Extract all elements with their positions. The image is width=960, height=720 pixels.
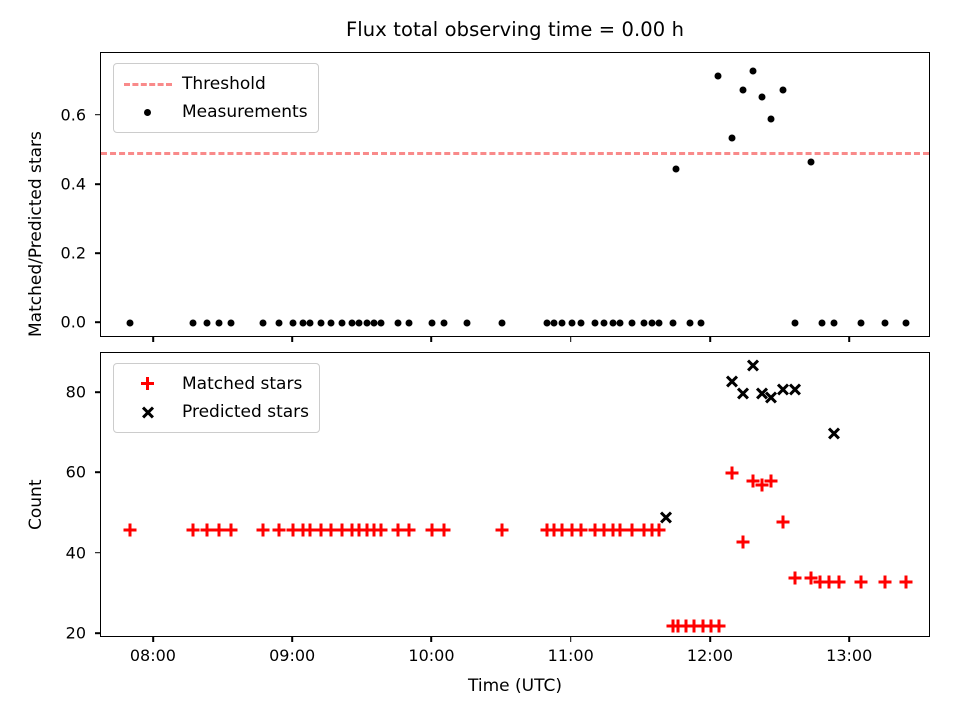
measurement-point [216, 320, 223, 327]
measurement-point [348, 320, 355, 327]
measurement-point [858, 320, 865, 327]
measurement-point [327, 320, 334, 327]
measurement-point [656, 320, 663, 327]
bottom-xtick-mark [291, 637, 293, 642]
bottom-ytick-label: 20 [15, 623, 95, 642]
measurement-point [543, 320, 550, 327]
measurement-point [550, 320, 557, 327]
bottom-xtick-mark [431, 637, 433, 642]
measurement-point [714, 73, 721, 80]
measurement-point [902, 320, 909, 327]
measurement-point [306, 320, 313, 327]
xtick-label: 08:00 [130, 646, 176, 665]
red-plus-icon [122, 372, 174, 396]
measurement-point [819, 320, 826, 327]
matched-star-point [437, 523, 450, 536]
measurement-point [276, 320, 283, 327]
measurement-point [227, 320, 234, 327]
measurement-point [568, 320, 575, 327]
measurement-point [698, 320, 705, 327]
matched-star-point [713, 619, 726, 632]
bottom-xtick-mark [848, 637, 850, 642]
measurement-point [299, 320, 306, 327]
measurement-point [759, 93, 766, 100]
matched-star-point [273, 523, 286, 536]
measurement-point [189, 320, 196, 327]
legend-top-panel: Threshold Measurements [113, 63, 319, 133]
measurement-point [363, 320, 370, 327]
xtick-label: 10:00 [408, 646, 454, 665]
legend-entry-matched-stars[interactable]: Matched stars [122, 370, 309, 398]
measurement-point [780, 86, 787, 93]
legend-label-measurements: Measurements [182, 104, 308, 121]
black-dot-icon [122, 100, 174, 124]
matched-star-point [833, 575, 846, 588]
measurement-point [728, 135, 735, 142]
measurement-point [405, 320, 412, 327]
top-xtick-mark [709, 337, 711, 342]
measurement-point [394, 320, 401, 327]
top-xtick-mark [570, 337, 572, 342]
legend-label-predicted-stars: Predicted stars [182, 404, 309, 421]
top-ytick-label: 0.6 [15, 105, 95, 124]
x-axis-label: Time (UTC) [100, 676, 930, 696]
matched-star-point [496, 523, 509, 536]
xtick-label: 11:00 [548, 646, 594, 665]
measurement-point [127, 320, 134, 327]
matplotlib-figure: Flux total observing time = 0.00 h Thres… [0, 0, 960, 720]
measurement-point [592, 320, 599, 327]
top-xtick-mark [848, 337, 850, 342]
axes-matched-predicted-ratio: Threshold Measurements [100, 52, 930, 337]
measurement-point [203, 320, 210, 327]
measurement-point [670, 320, 677, 327]
matched-star-point [200, 523, 213, 536]
predicted-star-point [746, 358, 760, 372]
top-xtick-mark [431, 337, 433, 342]
threshold-dashed-line-icon [122, 72, 174, 96]
measurement-point [767, 116, 774, 123]
measurement-point [464, 320, 471, 327]
matched-star-point [124, 523, 137, 536]
matched-star-point [899, 575, 912, 588]
predicted-star-point [659, 511, 673, 525]
legend-entry-predicted-stars[interactable]: Predicted stars [122, 398, 309, 426]
measurement-point [558, 320, 565, 327]
measurement-point [318, 320, 325, 327]
matched-star-point [374, 523, 387, 536]
black-cross-icon [122, 400, 174, 424]
matched-star-point [224, 523, 237, 536]
y-axis-label-bottom: Count [26, 480, 46, 531]
legend-entry-measurements[interactable]: Measurements [122, 98, 308, 126]
measurement-point [355, 320, 362, 327]
measurement-point [791, 320, 798, 327]
measurement-point [370, 320, 377, 327]
bottom-ytick-label: 80 [15, 383, 95, 402]
xtick-label: 12:00 [687, 646, 733, 665]
legend-bottom-panel: Matched stars Predicted stars [113, 363, 320, 433]
matched-star-point [736, 535, 749, 548]
matched-star-point [186, 523, 199, 536]
measurement-point [673, 166, 680, 173]
top-xtick-mark [291, 337, 293, 342]
measurement-point [440, 320, 447, 327]
legend-label-matched-stars: Matched stars [182, 376, 302, 393]
matched-star-point [879, 575, 892, 588]
threshold-line [101, 152, 929, 155]
measurement-point [739, 86, 746, 93]
axes-star-counts: Matched stars Predicted stars [100, 352, 930, 637]
matched-star-point [653, 523, 666, 536]
legend-entry-threshold[interactable]: Threshold [122, 70, 308, 98]
matched-star-point [855, 575, 868, 588]
bottom-ytick-label: 40 [15, 543, 95, 562]
measurement-point [338, 320, 345, 327]
matched-star-point [788, 571, 801, 584]
measurement-point [610, 320, 617, 327]
measurement-point [882, 320, 889, 327]
xtick-label: 13:00 [826, 646, 872, 665]
measurement-point [830, 320, 837, 327]
matched-star-point [256, 523, 269, 536]
matched-star-point [625, 523, 638, 536]
matched-star-point [575, 523, 588, 536]
matched-star-point [764, 475, 777, 488]
measurement-point [687, 320, 694, 327]
measurement-point [259, 320, 266, 327]
measurement-point [617, 320, 624, 327]
predicted-star-point [788, 382, 802, 396]
measurement-point [578, 320, 585, 327]
figure-title: Flux total observing time = 0.00 h [100, 18, 930, 41]
bottom-xtick-mark [570, 637, 572, 642]
top-xtick-mark [152, 337, 154, 342]
measurement-point [649, 320, 656, 327]
measurement-point [641, 320, 648, 327]
bottom-xtick-mark [709, 637, 711, 642]
matched-star-point [777, 515, 790, 528]
measurement-point [749, 67, 756, 74]
measurement-point [808, 158, 815, 165]
measurement-point [600, 320, 607, 327]
xtick-label: 09:00 [269, 646, 315, 665]
y-axis-label-top: Matched/Predicted stars [26, 131, 46, 337]
predicted-star-point [736, 386, 750, 400]
measurement-point [377, 320, 384, 327]
matched-star-point [725, 467, 738, 480]
legend-label-threshold: Threshold [182, 76, 266, 93]
measurement-point [628, 320, 635, 327]
bottom-xtick-mark [152, 637, 154, 642]
measurement-point [429, 320, 436, 327]
predicted-star-point [827, 426, 841, 440]
matched-star-point [402, 523, 415, 536]
measurement-point [290, 320, 297, 327]
measurement-point [499, 320, 506, 327]
